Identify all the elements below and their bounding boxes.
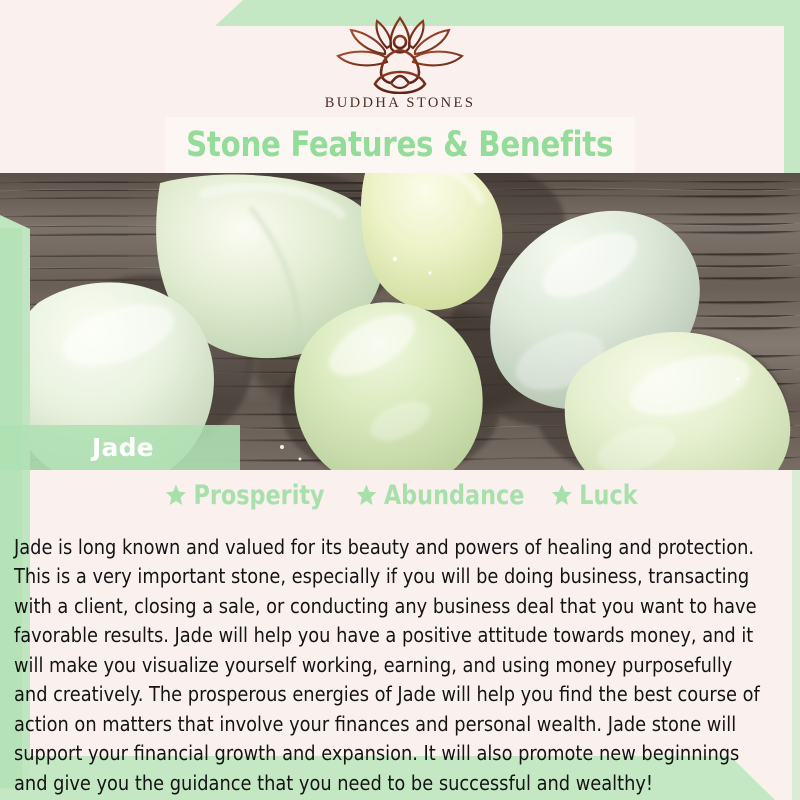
benefit-label: Luck (580, 480, 638, 511)
benefit-item-prosperity: Prosperity (165, 480, 325, 511)
benefit-label: Prosperity (194, 480, 325, 511)
page-title: Stone Features & Benefits (186, 128, 613, 163)
title-banner: Stone Features & Benefits (165, 117, 635, 173)
brand-wordmark: BUDDHA STONES (325, 95, 476, 112)
star-icon (165, 483, 187, 507)
benefit-item-luck: Luck (551, 480, 638, 511)
stone-benefits-infographic: BUDDHA STONES Stone Features & Benefits (0, 0, 800, 800)
benefit-item-abundance: Abundance (355, 480, 524, 511)
photo-caption-bar: Jade (0, 425, 240, 470)
benefits-row: Prosperity Abundance Luck (0, 478, 800, 512)
benefit-label: Abundance (384, 480, 525, 511)
brand-logo: BUDDHA STONES (0, 16, 800, 124)
star-icon (551, 483, 573, 507)
photo-caption-label: Jade (92, 433, 154, 462)
lotus-meditation-icon (325, 16, 475, 94)
star-icon (355, 483, 377, 507)
stone-description: Jade is long known and valued for its be… (14, 533, 763, 799)
